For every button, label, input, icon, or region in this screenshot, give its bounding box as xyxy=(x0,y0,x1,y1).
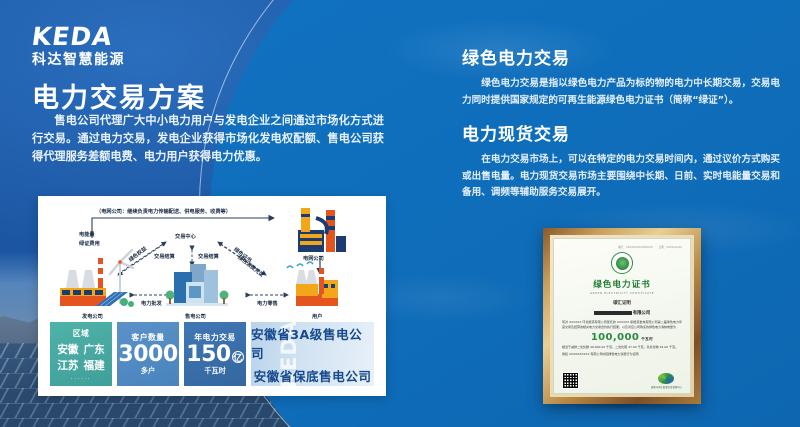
certificate-amount-value: 100,000 xyxy=(591,332,639,343)
org-emblem-icon xyxy=(658,373,674,384)
diagram-center-label: 交易中心 xyxy=(175,234,196,241)
content-card: （电网公司：继续负责电力传输配送、供电服务、收费等） 电能量 绿证费用 交易中心… xyxy=(38,196,386,396)
brand-logo: KEDA 科达智慧能源 xyxy=(32,24,125,67)
stat-region-caption: 区域 xyxy=(73,328,90,339)
badge-line-1: 安徽省保底售电公司 xyxy=(254,366,372,385)
brand-name-cn: 科达智慧能源 xyxy=(32,53,125,67)
qr-code-icon xyxy=(562,372,579,389)
icon-user-factory xyxy=(287,262,338,306)
certificate-paper: 编号：XXXXXXXXXXXXXXX 日期：XXXX-XX-XX 绿色电力证书 … xyxy=(553,238,691,394)
diagram-node-retailer: 售电公司 xyxy=(185,314,206,321)
diagram-node-grid: 电网公司 xyxy=(303,256,324,263)
province-0: 安徽 xyxy=(57,342,78,357)
diagram-retail: 电力零售 xyxy=(257,301,278,308)
icon-retail-building xyxy=(166,264,229,306)
stat-volume: 年电力交易 150 亿 千瓦时 xyxy=(184,322,246,386)
diagram-node-user: 用户 xyxy=(312,314,322,321)
stat-region: 区域 安徽 广东 江苏 福建 ...... xyxy=(50,322,112,386)
diagram-cert-fee-label: 绿证费用 xyxy=(79,241,100,248)
certificate-body: 现对 XXXXXX 环境能源有限公司受托的 XXXXXX 新能源发电有限公司第二… xyxy=(562,320,682,329)
stat-region-dots: ...... xyxy=(71,374,91,381)
intro-paragraph: 售电公司代理广大中小电力用户与发电企业之间通过市场化方式进行交易。通过电力交易，… xyxy=(32,112,384,166)
diagram-energy-label: 电能量 xyxy=(79,232,95,239)
stat-volume-magnitude: 亿 xyxy=(232,351,244,363)
stat-volume-value: 150 xyxy=(186,343,230,366)
certificate-frame: 编号：XXXXXXXXXXXXXXX 日期：XXXX-XX-XX 绿色电力证书 … xyxy=(543,228,701,404)
certificate-footer: 国家可再生能源信息管理中心 xyxy=(562,372,682,389)
page-title: 电力交易方案 xyxy=(32,76,206,115)
section-spot-body: 在电力交易市场上，可以在特定的电力交易时间内，通过议价方式购买或出售电量。电力现… xyxy=(462,152,780,202)
diagram-settle-right: 交易结算 xyxy=(198,254,219,261)
certificate-note-1: 相当于减排二氧化碳 49,000.00 千克，二氧化硫 47.00 千克，氮氧化… xyxy=(562,345,682,350)
section-green-body: 绿色电力交易是指以绿色电力产品为标的物的电力中长期交易，交易电力同时提供国家规定… xyxy=(462,76,780,109)
diagram-svg xyxy=(38,196,386,330)
stat-customers-unit: 多户 xyxy=(141,366,155,376)
province-3: 福建 xyxy=(84,358,105,373)
diagram-settle-left: 交易结算 xyxy=(154,254,175,261)
certificate-amount: 100,000千瓦时 xyxy=(591,332,653,343)
stat-customers: 客户数量 3000 多户 xyxy=(117,322,179,386)
certificate-seal-icon xyxy=(611,252,633,274)
certificate-amount-unit: 千瓦时 xyxy=(641,337,653,341)
diagram-wholesale: 电力批发 xyxy=(141,301,162,308)
province-2: 江苏 xyxy=(57,358,78,373)
certificate-org: 国家可再生能源信息管理中心 xyxy=(651,373,682,389)
certificate-kind: 碳汇证明 xyxy=(613,300,631,306)
icon-grid-company xyxy=(298,208,346,252)
certificate-title: 绿色电力证书 xyxy=(593,278,651,290)
certificate-serial: 编号：XXXXXXXXXXXXXXX xyxy=(618,245,652,249)
section-spot-trading: 电力现货交易 在电力交易市场上，可以在特定的电力交易时间内，通过议价方式购买或出… xyxy=(462,120,780,202)
green-certificate: 编号：XXXXXXXXXXXXXXX 日期：XXXX-XX-XX 绿色电力证书 … xyxy=(543,228,701,404)
stat-customers-value: 3000 xyxy=(118,343,177,366)
province-1: 广东 xyxy=(84,342,105,357)
section-green-trading: 绿色电力交易 绿色电力交易是指以绿色电力产品为标的物的电力中长期交易，交易电力同… xyxy=(462,44,780,109)
section-spot-title: 电力现货交易 xyxy=(462,120,780,145)
icon-power-plant xyxy=(60,258,106,306)
badge-line-0: 安徽省3A级售电公司 xyxy=(251,324,374,362)
section-green-title: 绿色电力交易 xyxy=(462,44,780,69)
stat-badges: KEDA 安徽省3A级售电公司 安徽省保底售电公司 xyxy=(251,322,374,386)
stat-region-provinces: 安徽 广东 江苏 福建 xyxy=(57,342,104,373)
diagram-top-note: （电网公司：继续负责电力传输配送、供电服务、收费等） xyxy=(96,209,231,216)
certificate-date: 日期：XXXX-XX-XX xyxy=(659,245,682,249)
diagram-node-generator: 发电公司 xyxy=(82,314,103,321)
stat-volume-unit: 千瓦时 xyxy=(204,366,226,376)
certificate-header: 编号：XXXXXXXXXXXXXXX 日期：XXXX-XX-XX xyxy=(562,245,682,249)
redaction-bar xyxy=(594,311,632,316)
certificate-mat: 编号：XXXXXXXXXXXXXXX 日期：XXXX-XX-XX 绿色电力证书 … xyxy=(550,235,694,397)
certificate-note-2: 授权 XXXXXXXXXX 有限公司中国绿色电力消费行为证明 xyxy=(562,352,682,357)
stat-strip: 区域 安徽 广东 江苏 福建 ...... 客户数量 3000 多户 年电力交易… xyxy=(50,322,374,386)
poster-canvas: KEDA 科达智慧能源 电力交易方案 售电公司代理广大中小电力用户与发电企业之间… xyxy=(0,0,800,427)
certificate-org-name: 国家可再生能源信息管理中心 xyxy=(651,385,682,389)
brand-mark: KEDA xyxy=(30,24,127,49)
certificate-company: 有限公司 xyxy=(594,310,651,316)
trading-flow-diagram: （电网公司：继续负责电力传输配送、供电服务、收费等） 电能量 绿证费用 交易中心… xyxy=(38,196,386,330)
stat-volume-valuewrap: 150 亿 xyxy=(186,343,243,366)
certificate-company-suffix: 有限公司 xyxy=(633,310,651,316)
certificate-title-en: GREEN ELECTRICITY CERTIFICATE xyxy=(590,291,654,295)
